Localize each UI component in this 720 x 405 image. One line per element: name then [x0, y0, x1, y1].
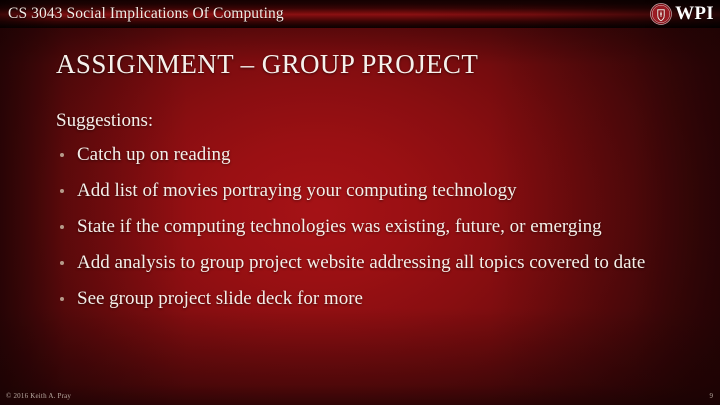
course-title: CS 3043 Social Implications Of Computing: [8, 3, 284, 25]
bullet-text: Catch up on reading: [77, 144, 231, 165]
slide-page-number: 9: [710, 391, 714, 401]
bullet-list: Catch up on reading Add list of movies p…: [56, 143, 652, 311]
bullet-text: Add analysis to group project website ad…: [77, 252, 645, 273]
wpi-wordmark: WPI: [675, 3, 714, 25]
slide-header-bar: CS 3043 Social Implications Of Computing…: [0, 0, 720, 28]
presentation-slide: CS 3043 Social Implications Of Computing…: [0, 0, 720, 405]
bullet-dot-icon: [60, 297, 64, 301]
bullet-text: See group project slide deck for more: [77, 288, 363, 309]
bullet-dot-icon: [60, 261, 64, 265]
bullet-item: See group project slide deck for more: [56, 287, 652, 311]
footer-copyright: © 2016 Keith A. Pray: [6, 391, 71, 401]
bullet-text: State if the computing technologies was …: [77, 216, 602, 237]
bullet-dot-icon: [60, 225, 64, 229]
wpi-logo: WPI: [650, 1, 714, 27]
bullet-item: Catch up on reading: [56, 143, 652, 167]
slide-body: Suggestions: Catch up on reading Add lis…: [56, 108, 652, 311]
bullet-dot-icon: [60, 189, 64, 193]
wpi-seal-icon: [650, 3, 672, 25]
bullet-item: State if the computing technologies was …: [56, 215, 652, 239]
bullet-text: Add list of movies portraying your compu…: [77, 180, 517, 201]
bullet-item: Add analysis to group project website ad…: [56, 251, 652, 275]
slide-title: ASSIGNMENT – GROUP PROJECT: [56, 48, 676, 81]
body-lead-text: Suggestions:: [56, 108, 652, 133]
bullet-dot-icon: [60, 153, 64, 157]
bullet-item: Add list of movies portraying your compu…: [56, 179, 652, 203]
